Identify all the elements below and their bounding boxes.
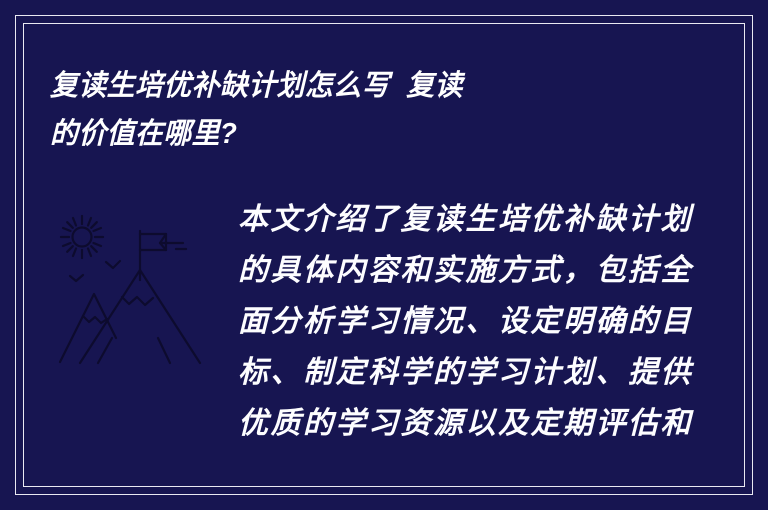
bird-icon <box>70 275 83 281</box>
bird-icon <box>106 261 120 268</box>
article-summary: 本文介绍了复读生培优补缺计划 的具体内容和实施方式，包括全 面分析学习情况、设定… <box>238 192 728 449</box>
page-title-line-2: 的价值在哪里? <box>50 110 645 158</box>
summary-line: 的具体内容和实施方式，包括全 <box>238 245 728 296</box>
page-title-line-1: 复读生培优补缺计划怎么写 复读 <box>50 62 645 110</box>
summary-line: 面分析学习情况、设定明确的目 <box>238 296 728 347</box>
summary-line: 标、制定科学的学习计划、提供 <box>238 347 728 398</box>
mountain-right-peak <box>80 270 200 363</box>
summit-flag-icon <box>140 231 186 280</box>
summary-line: 本文介绍了复读生培优补缺计划 <box>238 194 728 245</box>
article-cover-card: 复读生培优补缺计划怎么写 复读 的价值在哪里? <box>0 0 768 510</box>
mountain-with-flag-icon <box>50 198 220 388</box>
content-row: 本文介绍了复读生培优补缺计划 的具体内容和实施方式，包括全 面分析学习情况、设定… <box>50 192 728 462</box>
page-title: 复读生培优补缺计划怎么写 复读 的价值在哪里? <box>50 62 670 158</box>
sun-icon <box>61 216 103 258</box>
summary-line: 优质的学习资源以及定期评估和 <box>238 398 728 449</box>
